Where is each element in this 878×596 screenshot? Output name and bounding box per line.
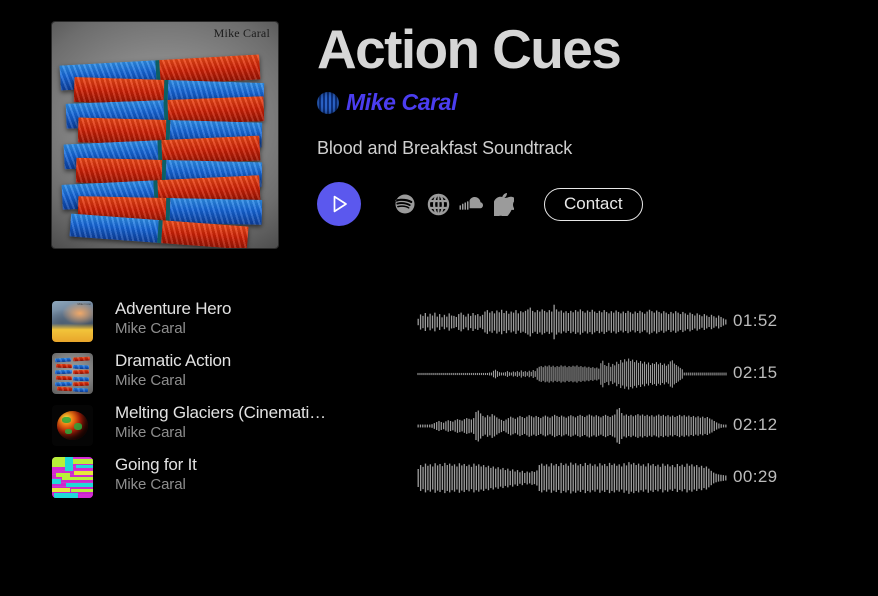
track-row[interactable]: Going for It Mike Caral 00:29 bbox=[0, 452, 878, 504]
artist-name: Mike Caral bbox=[346, 89, 457, 116]
track-info: Adventure Hero Mike Caral bbox=[115, 298, 405, 338]
going-for-it-artwork bbox=[52, 457, 93, 498]
play-button[interactable] bbox=[317, 182, 361, 226]
apple-music-icon[interactable] bbox=[492, 192, 516, 216]
track-artist: Mike Caral bbox=[115, 319, 405, 338]
spotify-icon[interactable] bbox=[393, 192, 417, 216]
contact-button[interactable]: Contact bbox=[544, 188, 643, 221]
track-artist: Mike Caral bbox=[115, 423, 405, 442]
album-cover-credit: Mike Caral bbox=[214, 26, 270, 41]
social-links bbox=[393, 192, 516, 216]
page-title: Action Cues bbox=[317, 18, 862, 80]
track-row[interactable]: Mike Caral Adventure Hero Mike Caral 01:… bbox=[0, 296, 878, 348]
globe-art bbox=[57, 411, 88, 440]
track-title: Adventure Hero bbox=[115, 298, 405, 319]
track-duration: 01:52 bbox=[733, 311, 778, 331]
track-artist: Mike Caral bbox=[115, 371, 405, 390]
track-title: Dramatic Action bbox=[115, 350, 405, 371]
globe-glyph bbox=[427, 193, 450, 216]
apple-glyph bbox=[494, 193, 514, 216]
album-cover-art: Mike Caral bbox=[52, 22, 278, 248]
track-row[interactable]: Melting Glaciers (Cinemati… Mike Caral 0… bbox=[0, 400, 878, 452]
track-duration: 00:29 bbox=[733, 467, 778, 487]
track-title: Melting Glaciers (Cinemati… bbox=[115, 402, 405, 423]
track-artist: Mike Caral bbox=[115, 475, 405, 494]
track-title: Going for It bbox=[115, 454, 405, 475]
artist-avatar bbox=[317, 92, 339, 114]
track-duration: 02:15 bbox=[733, 363, 778, 383]
album-cover[interactable]: Mike Caral bbox=[52, 22, 278, 248]
track-info: Going for It Mike Caral bbox=[115, 454, 405, 494]
play-icon bbox=[330, 194, 349, 214]
website-icon[interactable] bbox=[426, 192, 450, 216]
waveform[interactable] bbox=[417, 356, 727, 392]
spotify-glyph bbox=[394, 193, 416, 215]
album-page: Mike Caral bbox=[0, 0, 878, 596]
track-list: Mike Caral Adventure Hero Mike Caral 01:… bbox=[0, 296, 878, 504]
artwork-credit: Mike Caral bbox=[77, 302, 91, 306]
album-subtitle: Blood and Breakfast Soundtrack bbox=[317, 138, 862, 159]
waveform[interactable] bbox=[417, 460, 727, 496]
action-bar: Contact bbox=[317, 182, 643, 226]
soundcloud-glyph bbox=[459, 196, 483, 212]
track-duration: 02:12 bbox=[733, 415, 778, 435]
waveform[interactable] bbox=[417, 304, 727, 340]
dramatic-action-artwork bbox=[52, 353, 93, 394]
adventure-hero-artwork: Mike Caral bbox=[52, 301, 93, 342]
melting-glaciers-artwork bbox=[52, 405, 93, 446]
soundcloud-icon[interactable] bbox=[459, 192, 483, 216]
track-row[interactable]: Dramatic Action Mike Caral 02:15 bbox=[0, 348, 878, 400]
album-header: Mike Caral bbox=[0, 0, 878, 270]
track-info: Dramatic Action Mike Caral bbox=[115, 350, 405, 390]
waveform[interactable] bbox=[417, 408, 727, 444]
artist-link[interactable]: Mike Caral bbox=[317, 89, 862, 116]
album-meta: Action Cues Mike Caral Blood and Breakfa… bbox=[317, 18, 862, 159]
track-info: Melting Glaciers (Cinemati… Mike Caral bbox=[115, 402, 405, 442]
